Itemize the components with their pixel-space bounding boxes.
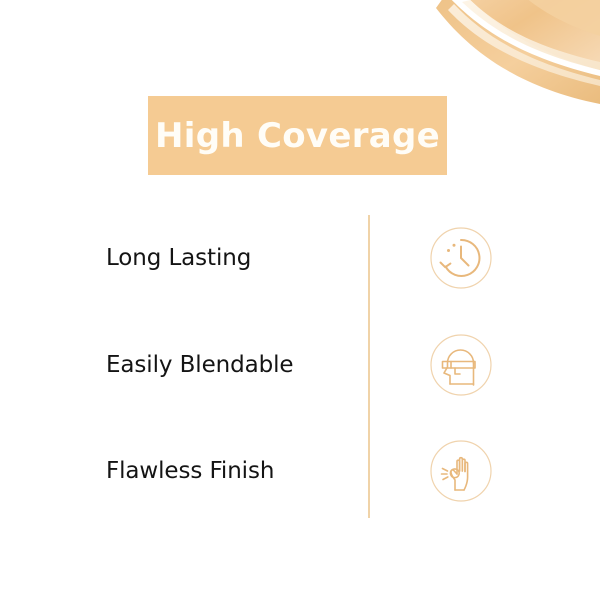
- ok-hand-sparkle-icon: [429, 439, 493, 503]
- list-item: Flawless Finish: [0, 418, 600, 524]
- list-item: Long Lasting: [0, 205, 600, 311]
- clock-history-icon: [429, 226, 493, 290]
- banner-title: High Coverage: [155, 119, 440, 153]
- feature-list: Long Lasting Easily Blendable: [0, 205, 600, 525]
- headline-banner: High Coverage: [148, 96, 447, 175]
- list-item: Easily Blendable: [0, 312, 600, 418]
- foundation-swirl-swatch: [430, 0, 600, 110]
- feature-label-easily-blendable: Easily Blendable: [106, 352, 293, 378]
- feature-label-flawless-finish: Flawless Finish: [106, 458, 274, 484]
- face-blending-icon: [429, 333, 493, 397]
- feature-label-long-lasting: Long Lasting: [106, 245, 251, 271]
- feature-card: High Coverage Long Lasting: [0, 0, 600, 600]
